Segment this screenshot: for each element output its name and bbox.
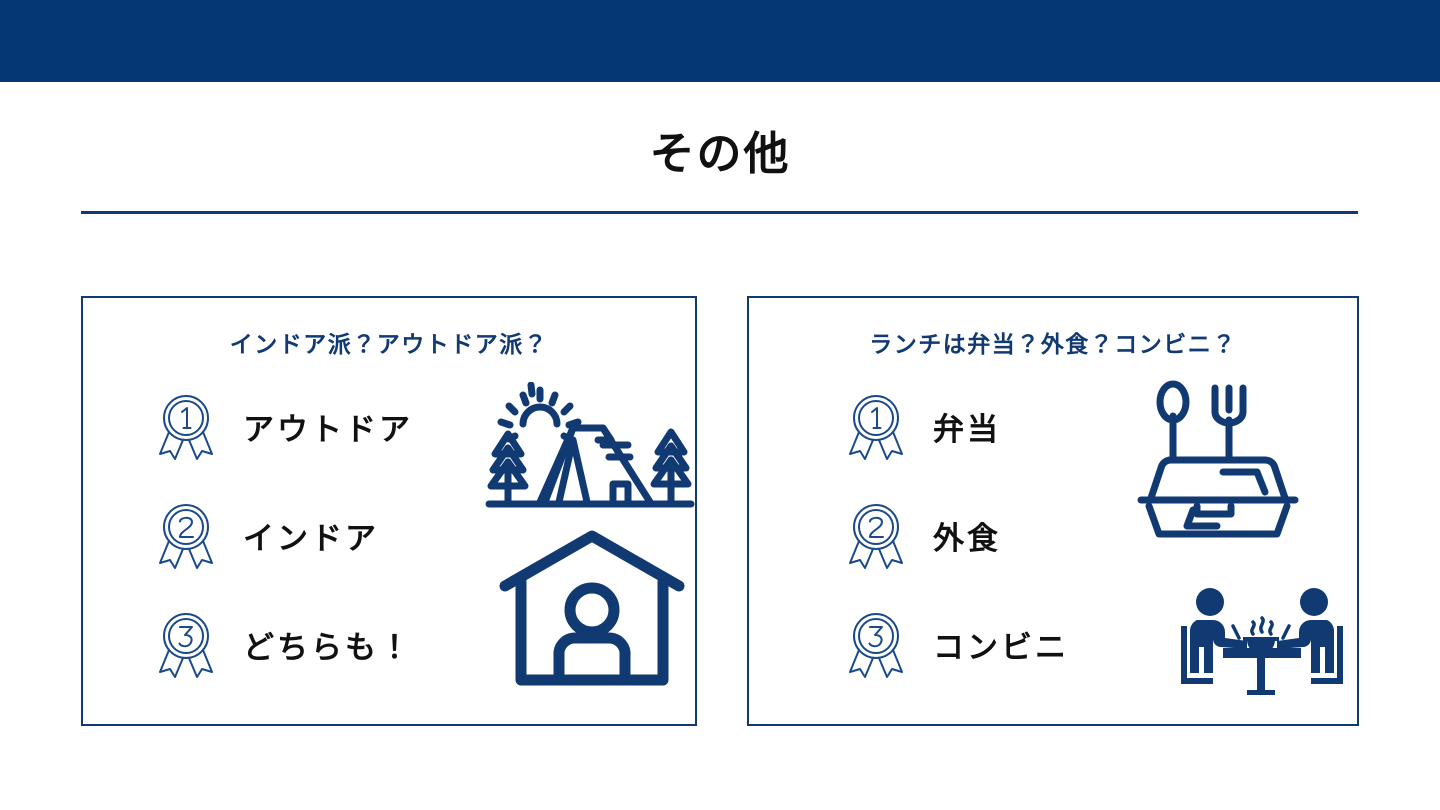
panel-heading-indoor-outdoor: インドア派？アウトドア派？	[83, 325, 695, 359]
list-item: どちらも！	[157, 610, 413, 678]
list-item-label: インドア	[243, 513, 379, 558]
ranking-list-lunch-style: 弁当 外食	[847, 392, 1069, 678]
medal-rank-1-icon	[157, 392, 215, 460]
medal-rank-2-icon	[157, 501, 215, 569]
list-item: コンビニ	[847, 610, 1069, 678]
list-item-label: 外食	[933, 513, 1001, 558]
list-item: 弁当	[847, 392, 1069, 460]
page-title: その他	[0, 126, 1440, 182]
house-with-person-icon	[497, 530, 687, 690]
list-item-label: アウトドア	[243, 404, 413, 449]
top-banner	[0, 0, 1440, 82]
panel-heading-lunch-style: ランチは弁当？外食？コンビニ？	[749, 325, 1357, 359]
panel-lunch-style: ランチは弁当？外食？コンビニ？ 弁当	[747, 296, 1359, 726]
list-item: インドア	[157, 501, 413, 569]
medal-rank-3-icon	[847, 610, 905, 678]
medal-rank-3-icon	[157, 610, 215, 678]
list-item-label: 弁当	[933, 404, 1001, 449]
panel-indoor-outdoor: インドア派？アウトドア派？ アウトドア	[81, 296, 697, 726]
medal-rank-2-icon	[847, 501, 905, 569]
ranking-list-indoor-outdoor: アウトドア インドア	[157, 392, 413, 678]
list-item-label: コンビニ	[933, 622, 1069, 667]
list-item-label: どちらも！	[243, 622, 413, 667]
title-divider	[81, 211, 1358, 214]
list-item: アウトドア	[157, 392, 413, 460]
panels-container: インドア派？アウトドア派？ アウトドア	[0, 296, 1440, 728]
medal-rank-1-icon	[847, 392, 905, 460]
camping-tent-icon	[485, 382, 695, 522]
people-dining-icon	[1177, 582, 1347, 697]
list-item: 外食	[847, 501, 1069, 569]
bento-box-icon	[1125, 380, 1315, 540]
